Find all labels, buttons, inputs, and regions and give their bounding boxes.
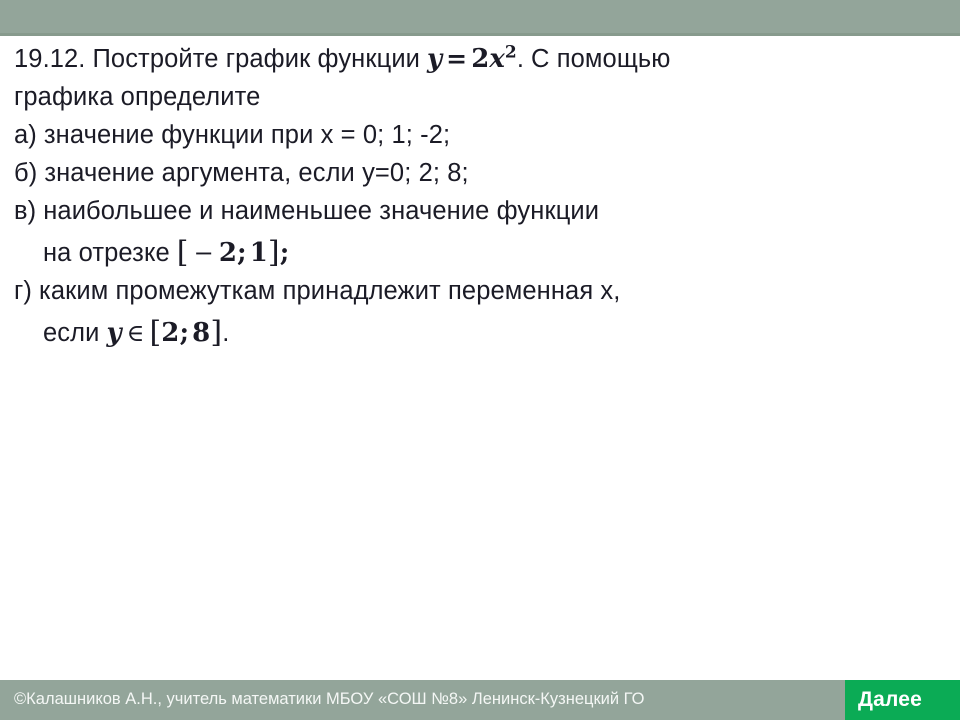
membership-prefix-text: если [43, 319, 99, 347]
problem-line-1: 19.12.Постройте график функцииy=2x2.С по… [14, 40, 946, 78]
item-text-a: значение функции при x = 0; 1; -2; [44, 121, 450, 149]
segment-prefix-text: на отрезке [43, 239, 170, 267]
membership-right-value: 8 [192, 318, 210, 348]
problem-item-b: б)значение аргумента, если y=0; 2; 8; [14, 154, 946, 192]
top-band-rule [0, 33, 960, 36]
interval-separator: ; [237, 238, 247, 268]
problem-item-c-interval-line: на отрезке[−2;1]; [14, 233, 946, 272]
formula-period: . [517, 45, 524, 73]
membership-separator: ; [179, 318, 189, 348]
interval-minus-sign: − [189, 239, 219, 267]
formula-variable: x [489, 44, 505, 74]
formula-y-equals-2x-squared: y=2x2 [427, 45, 517, 73]
item-text-b: значение аргумента, если y=0; 2; 8; [44, 159, 468, 187]
item-text-d: каким промежуткам принадлежит переменная… [39, 277, 620, 305]
problem-line-2: графика определите [14, 78, 946, 116]
interval-terminator: ; [280, 238, 290, 268]
membership-variable: y [106, 318, 121, 348]
item-text-c: наибольшее и наименьшее значение функции [43, 197, 599, 225]
next-button[interactable]: Далее [845, 680, 960, 720]
membership-left-value: 2 [161, 318, 179, 348]
formula-lhs: y [427, 44, 442, 74]
membership-close-bracket: ] [210, 315, 222, 350]
membership-open-bracket: [ [149, 315, 161, 350]
item-marker-c: в) [14, 197, 36, 225]
problem-number: 19.12. [14, 45, 86, 73]
next-button-label: Далее [858, 689, 922, 711]
item-marker-d: г) [14, 277, 32, 305]
interval-2-to-8: [2;8] [149, 319, 222, 347]
interval-left-value: 2 [219, 238, 237, 268]
item-marker-a: а) [14, 121, 37, 149]
problem-item-c: в)наибольшее и наименьшее значение функц… [14, 192, 946, 230]
item-marker-b: б) [14, 159, 37, 187]
membership-operator-element-of: ∈ [122, 319, 150, 347]
problem-item-d: г)каким промежуткам принадлежит переменн… [14, 272, 946, 310]
membership-terminator: . [222, 319, 229, 347]
problem-intro-text: Постройте график функции [93, 45, 421, 73]
interval-right-value: 1 [250, 238, 268, 268]
top-decorative-band [0, 0, 960, 33]
problem-intro-text-after: С помощью [531, 45, 671, 73]
interval-close-bracket: ] [268, 235, 280, 270]
formula-exponent: 2 [505, 43, 517, 63]
interval-open-bracket: [ [177, 235, 189, 270]
author-credit: ©Калашников А.Н., учитель математики МБО… [14, 688, 824, 710]
problem-item-d-membership-line: еслиy∈[2;8]. [14, 313, 946, 352]
problem-item-a: а)значение функции при x = 0; 1; -2; [14, 116, 946, 154]
formula-equals: = [442, 44, 471, 73]
interval-minus-2-to-1: [−2;1]; [177, 239, 290, 267]
problem-content: 19.12.Постройте график функцииy=2x2.С по… [0, 40, 960, 352]
formula-coefficient: 2 [471, 44, 489, 74]
slide: 19.12.Постройте график функцииy=2x2.С по… [0, 0, 960, 720]
